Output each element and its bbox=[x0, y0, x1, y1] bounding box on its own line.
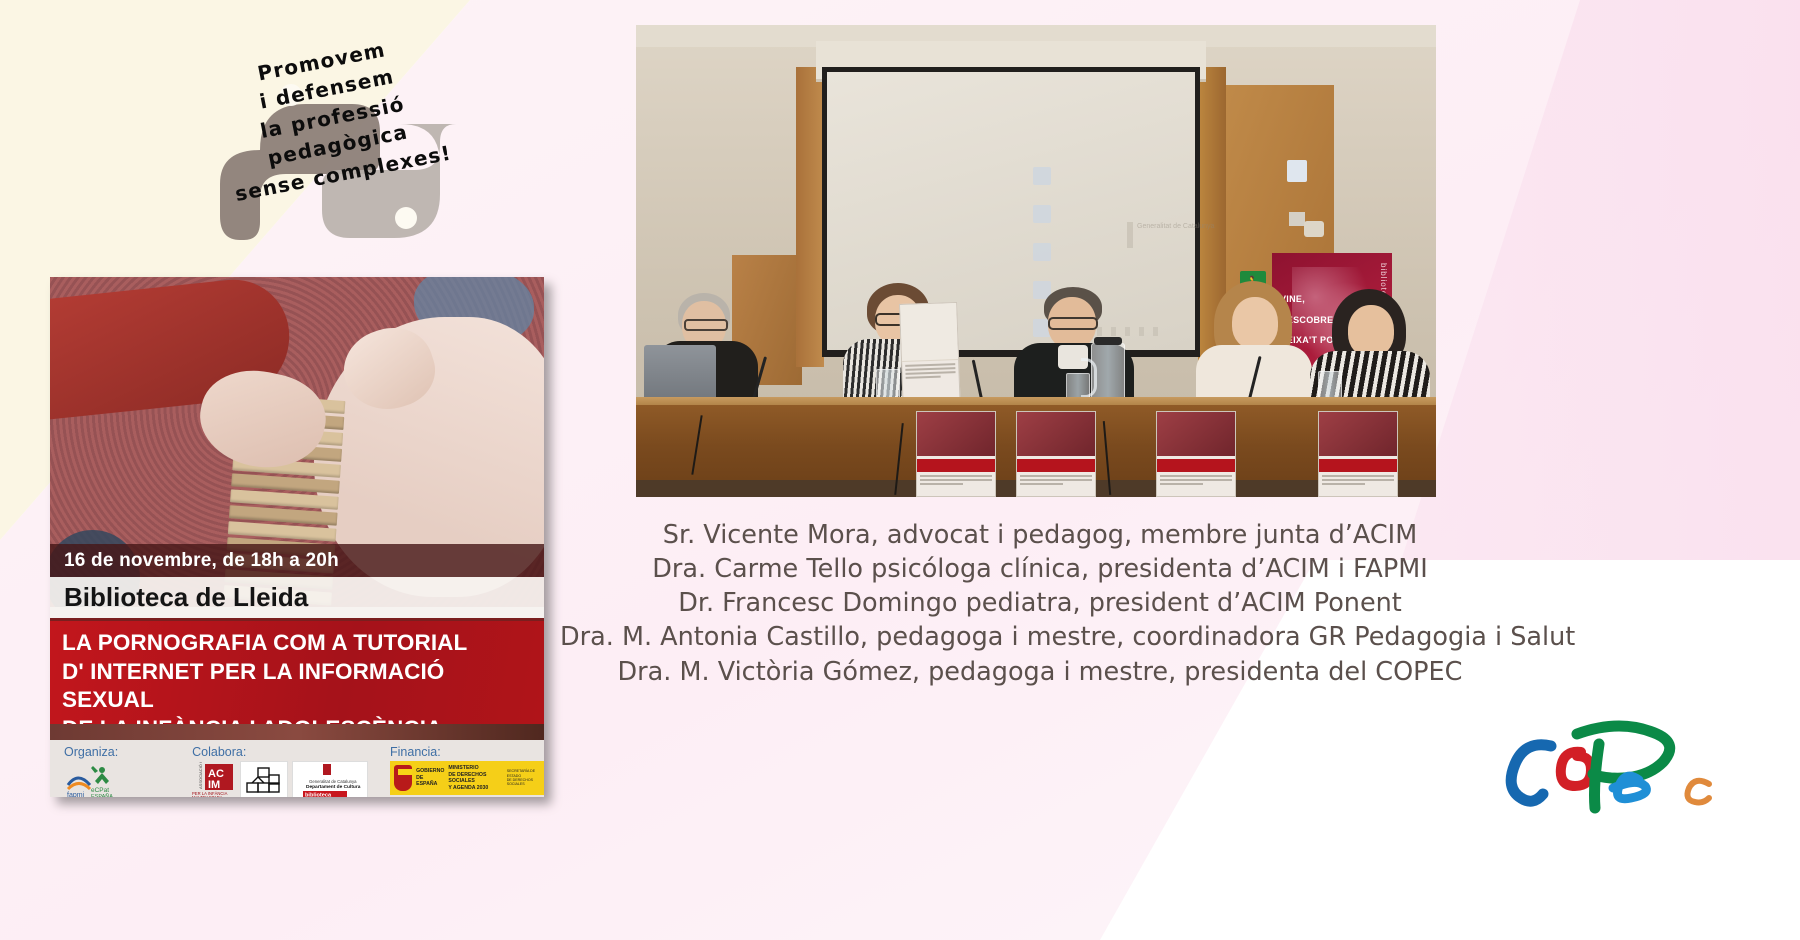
poster-date-text: 16 de novembre, de 18h a 20h bbox=[50, 550, 339, 572]
table-flyer-1 bbox=[916, 411, 996, 497]
copec-logo[interactable] bbox=[1495, 700, 1765, 830]
gobierno-label: GOBIERNODE ESPAÑA bbox=[416, 768, 444, 788]
spain-coat-of-arms-icon bbox=[394, 765, 412, 791]
speaker-line-1: Sr. Vicente Mora, advocat i pedagog, mem… bbox=[560, 518, 1520, 552]
financia-label: Financia: bbox=[390, 745, 544, 759]
colabora-logos: AC IM ASSOCIACIÓ CATALANA PER LA INFÀNCI… bbox=[192, 761, 376, 797]
speaker-list: Sr. Vicente Mora, advocat i pedagog, mem… bbox=[560, 518, 1520, 689]
ministerio-label: MINISTERIODE DERECHOS SOCIALESY AGENDA 2… bbox=[448, 765, 502, 791]
svg-text:MALTRACTADA: MALTRACTADA bbox=[192, 795, 223, 797]
screen-logo: Generalitat de Catalunya bbox=[1127, 222, 1237, 248]
svg-text:ESPAÑA: ESPAÑA bbox=[91, 793, 113, 797]
poster-colabora-group: Colabora: AC IM ASSOCIACIÓ CATALANA PER … bbox=[192, 745, 376, 797]
svg-text:eCPat: eCPat bbox=[91, 787, 109, 794]
screen-icon-right-top bbox=[1287, 160, 1307, 182]
svg-text:fapmi: fapmi bbox=[67, 792, 85, 797]
fapmi-logo: fapmi eCPat ESPAÑA bbox=[64, 761, 116, 797]
conference-panel-photo[interactable]: Generalitat de Catalunya 🚶 VINE, DESCOBR… bbox=[636, 25, 1436, 497]
photo-screen-frame-left bbox=[796, 67, 824, 367]
poster-divider-strip bbox=[50, 724, 544, 740]
table-flyer-4 bbox=[1318, 411, 1398, 497]
svg-text:IM: IM bbox=[208, 779, 220, 791]
screen-logo-text: Generalitat de Catalunya bbox=[1127, 222, 1237, 233]
poster-place-text: Biblioteca de Lleida bbox=[50, 582, 308, 613]
generalitat-logo: Generalitat de Catalunya Departament de … bbox=[292, 761, 368, 797]
table-flyer-2 bbox=[1016, 411, 1096, 497]
colabora-label: Colabora: bbox=[192, 745, 376, 759]
photo-wall-speaker bbox=[1304, 221, 1324, 237]
organiza-label: Organiza: bbox=[64, 745, 180, 759]
python-snake-emblem bbox=[200, 32, 460, 242]
biblioteca-blocks-logo bbox=[240, 761, 288, 797]
poster-date-band: 16 de novembre, de 18h a 20h bbox=[50, 544, 544, 577]
poster-sponsor-bar: Organiza: fapmi eCPat bbox=[50, 740, 544, 797]
speaker-line-5: Dra. M. Victòria Gómez, pedagoga i mestr… bbox=[560, 655, 1520, 689]
table-flyer-3 bbox=[1156, 411, 1236, 497]
poster-title-line-2: D' INTERNET PER LA INFORMACIÓ SEXUAL bbox=[62, 658, 532, 715]
poster-organiza-group: Organiza: fapmi eCPat bbox=[64, 745, 180, 797]
svg-text:ASSOCIACIÓ CATALANA: ASSOCIACIÓ CATALANA bbox=[198, 762, 203, 789]
speaker-line-3: Dr. Francesc Domingo pediatra, president… bbox=[560, 586, 1520, 620]
event-poster[interactable]: 16 de novembre, de 18h a 20h Biblioteca … bbox=[50, 277, 544, 797]
poster-place-band: Biblioteca de Lleida bbox=[50, 577, 544, 621]
organiza-logos: fapmi eCPat ESPAÑA bbox=[64, 761, 180, 797]
secretaria-label: SECRETARÍA DE ESTADODE DERECHOS SOCIALES bbox=[507, 769, 544, 787]
poster-title-block: LA PORNOGRAFIA COM A TUTORIAL D' INTERNE… bbox=[50, 621, 544, 724]
speaker-line-2: Dra. Carme Tello psicóloga clínica, pres… bbox=[560, 552, 1520, 586]
poster-financia-group: Financia: GOBIERNODE ESPAÑA MINISTERIODE… bbox=[390, 745, 544, 795]
poster-title-line-1: LA PORNOGRAFIA COM A TUTORIAL bbox=[62, 629, 532, 658]
svg-text:Departament de Cultura: Departament de Cultura bbox=[306, 784, 361, 790]
acim-logo: AC IM ASSOCIACIÓ CATALANA PER LA INFÀNCI… bbox=[192, 762, 236, 797]
speaker-line-4: Dra. M. Antonia Castillo, pedagoga i mes… bbox=[560, 620, 1520, 654]
financia-logos: GOBIERNODE ESPAÑA MINISTERIODE DERECHOS … bbox=[390, 761, 544, 795]
gobierno-espana-logo: GOBIERNODE ESPAÑA MINISTERIODE DERECHOS … bbox=[390, 761, 544, 795]
svg-text:Generalitat de Catalunya: Generalitat de Catalunya bbox=[309, 779, 357, 784]
screen-icon-right-bottom bbox=[1289, 212, 1305, 226]
slide-canvas: Promovem i defensem la professió pedagòg… bbox=[0, 0, 1800, 940]
